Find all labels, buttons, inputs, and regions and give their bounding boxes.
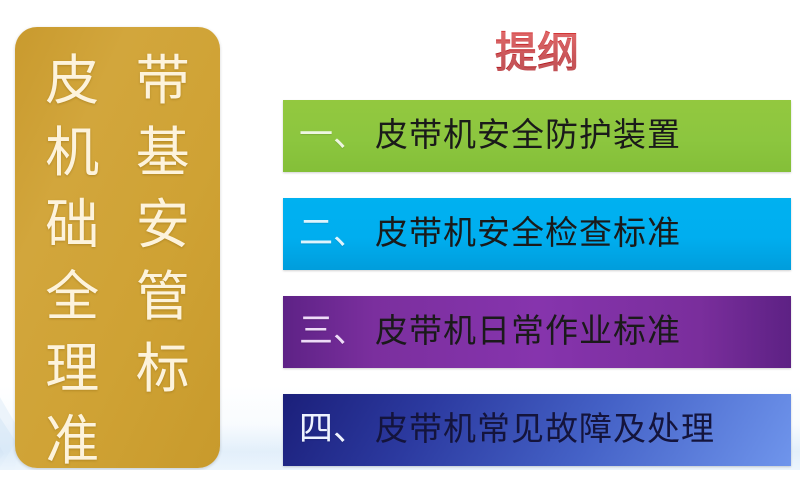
side-title-characters: 皮 带 机 基 础 安 全 管 理 标 准: [15, 45, 220, 468]
outline-item-number: 二、: [283, 217, 375, 251]
outline-item-label: 皮带机安全防护装置: [375, 118, 681, 154]
side-title-char: 理: [27, 333, 118, 405]
page-title: 提纲: [283, 28, 791, 80]
outline-item-4[interactable]: 四、 皮带机常见故障及处理: [283, 394, 791, 466]
outline-item-1[interactable]: 一、 皮带机安全防护装置: [283, 100, 791, 172]
side-title-char: 标: [118, 333, 209, 405]
side-title-char: 全: [27, 261, 118, 333]
side-title-char: 安: [118, 189, 209, 261]
side-title-char: 机: [27, 117, 118, 189]
outline-list: 一、 皮带机安全防护装置 二、 皮带机安全检查标准 三、 皮带机日常作业标准 四…: [283, 100, 791, 466]
side-title-char: 基: [118, 117, 209, 189]
outline-item-label: 皮带机日常作业标准: [375, 314, 681, 350]
outline-item-number: 四、: [283, 413, 375, 447]
side-title-char: 准: [27, 405, 118, 468]
outline-item-number: 一、: [283, 119, 375, 153]
side-title-char: 带: [118, 45, 209, 117]
side-title-char: 皮: [27, 45, 118, 117]
side-title-char: 管: [118, 261, 209, 333]
slide-canvas: 皮 带 机 基 础 安 全 管 理 标 准 提纲 一、 皮带机安全防护装置 二、…: [0, 0, 800, 470]
side-title-char: 础: [27, 189, 118, 261]
side-title-panel: 皮 带 机 基 础 安 全 管 理 标 准: [15, 27, 220, 468]
outline-item-label: 皮带机常见故障及处理: [375, 412, 715, 448]
outline-item-number: 三、: [283, 315, 375, 349]
outline-item-2[interactable]: 二、 皮带机安全检查标准: [283, 198, 791, 270]
outline-item-label: 皮带机安全检查标准: [375, 216, 681, 252]
outline-item-3[interactable]: 三、 皮带机日常作业标准: [283, 296, 791, 368]
